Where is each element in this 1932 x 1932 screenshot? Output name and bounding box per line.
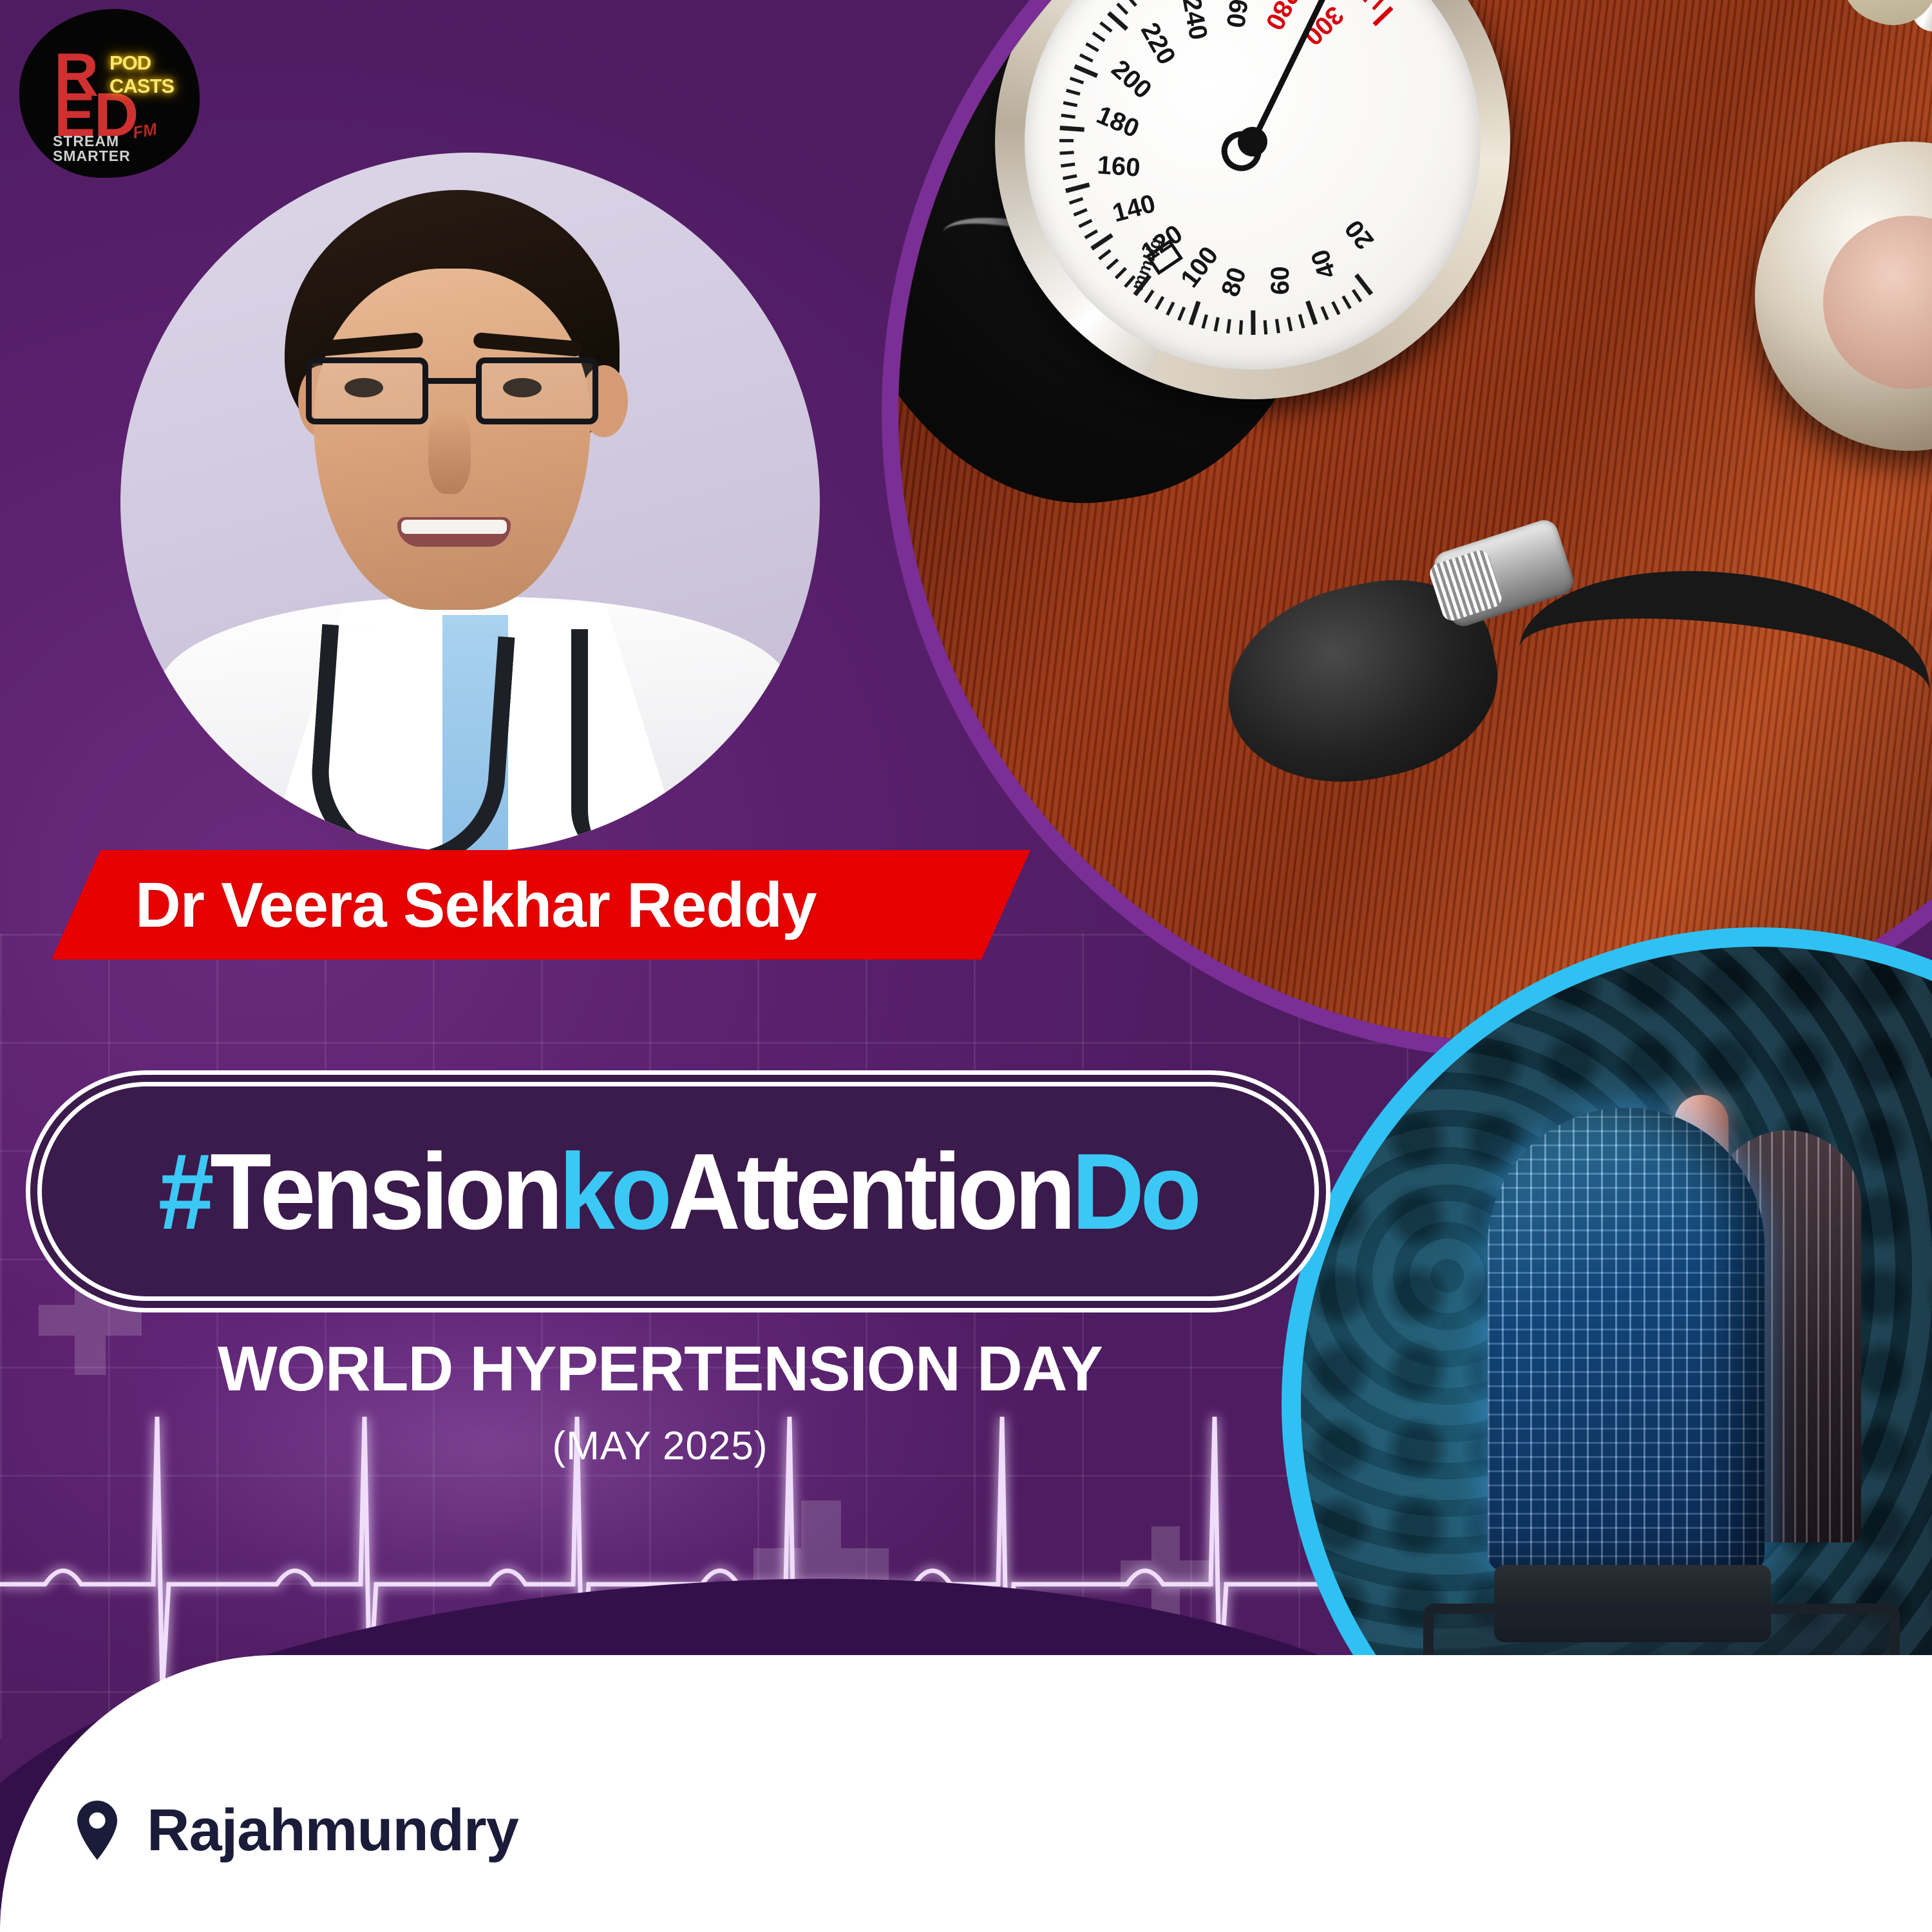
gauge-minor-tick (1331, 301, 1340, 315)
gauge-major-tick (1065, 182, 1090, 191)
gauge-major-tick (1090, 233, 1112, 249)
campaign-hashtag-box: #TensionkoAttentionDo (37, 1082, 1319, 1301)
gauge-minor-tick (1084, 229, 1098, 238)
speaker-name-banner: Dr Veera Sekhar Reddy (52, 850, 1030, 960)
gauge-major-tick (1075, 64, 1099, 76)
gauge-minor-tick (1373, 0, 1384, 10)
campaign-date: (MAY 2025) (0, 1426, 1320, 1466)
gauge-tick-label: 260 (1222, 0, 1253, 30)
hashtag-segment-1: Tension (211, 1131, 560, 1252)
gauge-minor-tick (1364, 0, 1374, 3)
gauge-minor-tick (1341, 296, 1350, 309)
redfm-podcasts-logo[interactable]: R E D POD CASTS FM STREAM SMARTER (19, 9, 200, 178)
hashtag-segment-0: # (158, 1131, 210, 1252)
gauge-minor-tick (1352, 290, 1361, 303)
gauge-minor-tick (1063, 175, 1077, 179)
gauge-major-tick (1374, 8, 1393, 26)
gauge-minor-tick (1069, 197, 1083, 204)
hashtag-segment-4: Do (1072, 1131, 1198, 1252)
gauge-minor-tick (1073, 208, 1086, 215)
location-block: Rajahmundry (77, 1801, 518, 1860)
gauge-minor-tick (1287, 317, 1291, 331)
gauge-tick-label: 220 (1136, 19, 1180, 69)
logo-word-casts: CASTS (109, 76, 174, 96)
gauge-minor-tick (1066, 89, 1081, 95)
gauge-minor-tick (1239, 320, 1242, 334)
gauge-minor-tick (1275, 319, 1279, 333)
page-title: WORLD HYPERTENSION DAY (0, 1337, 1320, 1400)
gauge-minor-tick (1166, 301, 1173, 315)
speaker-name: Dr Veera Sekhar Reddy (135, 873, 817, 936)
gauge-major-tick (1189, 301, 1199, 325)
gauge-tick-label: 140 (1110, 191, 1158, 227)
gauge-minor-tick (1106, 258, 1118, 269)
gauge-tick-label: 40 (1307, 246, 1340, 281)
gauge-minor-tick (1214, 317, 1218, 331)
gauge-tick-label: 280 (1261, 0, 1303, 34)
blood-pressure-gauge-photo: 2040608010012014016018020022024026028030… (898, 0, 1932, 1043)
gauge-minor-tick (1100, 21, 1112, 32)
gauge-minor-tick (1298, 314, 1304, 328)
gauge-minor-tick (1070, 77, 1084, 83)
gauge-minor-tick (1226, 319, 1230, 333)
gauge-minor-tick (1093, 32, 1106, 41)
gauge-major-tick (1251, 310, 1253, 335)
gauge-tick-label: 100 (1177, 242, 1223, 292)
gauge-major-tick (1305, 301, 1316, 325)
gauge-minor-tick (1201, 314, 1207, 328)
gauge-minor-tick (1155, 296, 1164, 310)
gauge-tick-label: 240 (1179, 0, 1212, 42)
gauge-major-tick (1060, 126, 1084, 130)
gauge-tick-label: 20 (1340, 215, 1378, 254)
gauge-minor-tick (1080, 53, 1094, 62)
location-city: Rajahmundry (147, 1801, 518, 1860)
logo-word-pod: POD (109, 53, 151, 73)
map-pin-icon (77, 1801, 117, 1860)
gauge-minor-tick (1086, 43, 1099, 52)
hashtag-segment-2: ko (559, 1131, 668, 1252)
gauge-minor-tick (1063, 101, 1077, 106)
gauge-minor-tick (1061, 162, 1075, 166)
gauge-minor-tick (1117, 3, 1129, 14)
hashtag-segment-3: Attention (668, 1131, 1072, 1252)
gauge-tick-label: 160 (1096, 152, 1141, 181)
microphone-grille (1488, 1108, 1765, 1571)
gauge-minor-tick (1078, 219, 1092, 227)
gauge-minor-tick (1059, 151, 1074, 153)
gauge-minor-tick (1115, 267, 1126, 279)
gauge-tick-label: 200 (1107, 55, 1156, 103)
gauge-tick-label: 180 (1093, 102, 1142, 142)
poster-canvas: 2040608010012014016018020022024026028030… (0, 0, 1932, 1932)
gauge-minor-tick (1177, 307, 1184, 320)
gauge-minor-tick (1126, 0, 1137, 6)
campaign-hashtag: #TensionkoAttentionDo (158, 1137, 1198, 1245)
footer-bar (0, 1655, 1932, 1932)
gauge-tick-label: 60 (1267, 266, 1293, 295)
gauge-minor-tick (1320, 307, 1327, 320)
gauge-minor-tick (1059, 139, 1074, 141)
logo-tagline: STREAM SMARTER (53, 134, 200, 164)
gauge-minor-tick (1061, 113, 1075, 117)
gauge-tick-label: 80 (1217, 264, 1251, 299)
gauge-minor-tick (1264, 320, 1267, 334)
speaker-avatar (120, 153, 820, 852)
gauge-minor-tick (1098, 249, 1110, 260)
